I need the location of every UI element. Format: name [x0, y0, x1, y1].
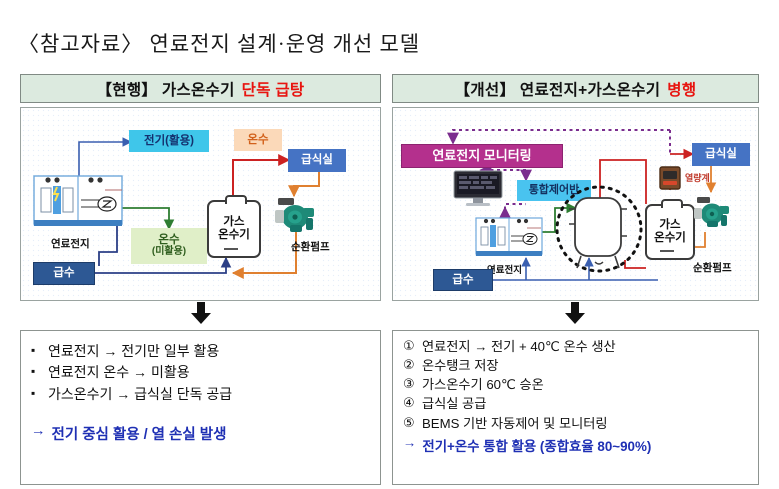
heat-meter-unit: [659, 166, 681, 190]
list-text: 연료전지 → 전기 + 40℃ 온수 생산: [422, 337, 616, 356]
gas-heater-line1: 가스: [223, 216, 244, 228]
right-panel: 【개선】 연료전지+가스온수기 병행: [392, 74, 759, 485]
conclusion-arrow: →: [403, 435, 416, 450]
list-item: ▪ 연료전지 → 전기만 일부 활용: [31, 341, 372, 362]
left-arrow-row: [20, 301, 381, 323]
right-header-main: 【개선】 연료전지+가스온수기: [455, 78, 661, 100]
fuelcell-unit: [475, 213, 543, 261]
page-title: 〈참고자료〉 연료전지 설계·운영 개선 모델: [18, 28, 420, 58]
pump-caption: 순환펌프: [291, 239, 330, 254]
right-conclusion: → 전기+온수 통합 활용 (종합효율 80~90%): [403, 435, 750, 455]
gas-heater-unit: 가스 온수기: [207, 200, 261, 258]
conclusion-text: 전기 중심 활용 / 열 손실 발생: [52, 423, 227, 444]
left-header-main: 【현행】 가스온수기: [97, 78, 235, 100]
pump-icon: [273, 194, 319, 234]
right-list-box: ① 연료전지 → 전기 + 40℃ 온수 생산 ② 온수탱크 저장 ③ 가스온수…: [392, 330, 759, 485]
right-diagram: 연료전지 모니터링: [392, 107, 759, 301]
list-item: ① 연료전지 → 전기 + 40℃ 온수 생산: [403, 337, 750, 356]
list-marker: ▪: [31, 341, 48, 359]
water-supply-label: 급수: [33, 262, 95, 285]
hotwater-unused-label: 온수 (미활용): [131, 228, 207, 264]
cafeteria-label: 급식실: [288, 149, 346, 172]
gas-heater-pipe-stub: [225, 195, 247, 204]
gas-heater-line2: 온수기: [218, 229, 250, 241]
gas-heater-line1: 가스: [659, 219, 680, 231]
list-marker: ②: [403, 356, 422, 375]
list-text: 가스온수기 → 급식실 단독 공급: [48, 384, 232, 405]
list-item: ② 온수탱크 저장: [403, 356, 750, 375]
right-panel-header: 【개선】 연료전지+가스온수기 병행: [392, 74, 759, 103]
list-item: ▪ 연료전지 온수 → 미활용: [31, 362, 372, 383]
left-list-box: ▪ 연료전지 → 전기만 일부 활용 ▪ 연료전지 온수 → 미활용 ▪ 가스온…: [20, 330, 381, 485]
list-text: 가스온수기 60℃ 승온: [422, 375, 544, 394]
electricity-label: 전기(활용): [129, 130, 209, 152]
gas-heater-slot: [224, 248, 238, 250]
hotwater-unused-line1: 온수: [158, 234, 179, 246]
conclusion-arrow: →: [31, 423, 46, 439]
list-text: BEMS 기반 자동제어 및 모니터링: [422, 414, 608, 433]
list-marker: ③: [403, 375, 422, 394]
fuelcell-unit: [33, 170, 125, 232]
list-marker: ▪: [31, 362, 48, 380]
gas-heater-unit: 가스 온수기: [645, 204, 695, 260]
conclusion-text: 전기+온수 통합 활용 (종합효율 80~90%): [422, 435, 651, 455]
pump-icon: [693, 194, 733, 230]
gas-heater-line2: 온수기: [654, 232, 686, 244]
left-diagram: 전기(활용) 온수 급식실 온수 (미활용): [20, 107, 381, 301]
fuelcell-icon: [475, 213, 543, 261]
list-item: ④ 급식실 공급: [403, 394, 750, 413]
list-marker: ④: [403, 394, 422, 413]
monitoring-label: 연료전지 모니터링: [401, 144, 563, 168]
pump-unit: [273, 194, 319, 234]
fuelcell-icon: [33, 170, 125, 232]
list-item: ③ 가스온수기 60℃ 승온: [403, 375, 750, 394]
monitor-icon: [453, 170, 503, 208]
fuelcell-caption: 연료전지: [51, 236, 90, 251]
list-text: 온수탱크 저장: [422, 356, 498, 375]
monitor-unit: [453, 170, 503, 208]
hotwater-tank-unit: [551, 184, 647, 276]
right-header-highlight: 병행: [667, 78, 696, 100]
cafeteria-label: 급식실: [692, 143, 750, 166]
list-marker: ⑤: [403, 414, 422, 433]
water-supply-label: 급수: [433, 269, 493, 291]
list-spacer: [31, 405, 372, 423]
pump-caption: 순환펌프: [693, 260, 732, 275]
heat-meter-label: 열량계: [685, 171, 710, 184]
list-text: 연료전지 온수 → 미활용: [48, 362, 190, 383]
list-item: ▪ 가스온수기 → 급식실 단독 공급: [31, 384, 372, 405]
gas-heater-slot: [660, 250, 674, 252]
list-marker: ①: [403, 337, 422, 356]
left-panel: 【현행】 가스온수기 단독 급탕: [20, 74, 381, 485]
left-conclusion: → 전기 중심 활용 / 열 손실 발생: [31, 423, 372, 444]
down-arrow-icon: [562, 302, 588, 324]
list-marker: ▪: [31, 384, 48, 402]
list-text: 연료전지 → 전기만 일부 활용: [48, 341, 219, 362]
left-header-highlight: 단독 급탕: [242, 78, 305, 100]
gas-heater-pipe-stub: [661, 199, 683, 208]
list-item: ⑤ BEMS 기반 자동제어 및 모니터링: [403, 414, 750, 433]
down-arrow-icon: [188, 302, 214, 324]
list-text: 급식실 공급: [422, 394, 486, 413]
heat-meter-icon: [659, 166, 681, 190]
pump-unit: [693, 194, 733, 230]
right-arrow-row: [392, 301, 759, 323]
hotwater-tank-icon: [551, 184, 647, 276]
slide-page: 〈참고자료〉 연료전지 설계·운영 개선 모델 【현행】 가스온수기 단독 급탕: [0, 0, 779, 489]
hotwater-label: 온수: [234, 129, 282, 151]
hotwater-unused-line2: (미활용): [152, 247, 186, 258]
left-panel-header: 【현행】 가스온수기 단독 급탕: [20, 74, 381, 103]
